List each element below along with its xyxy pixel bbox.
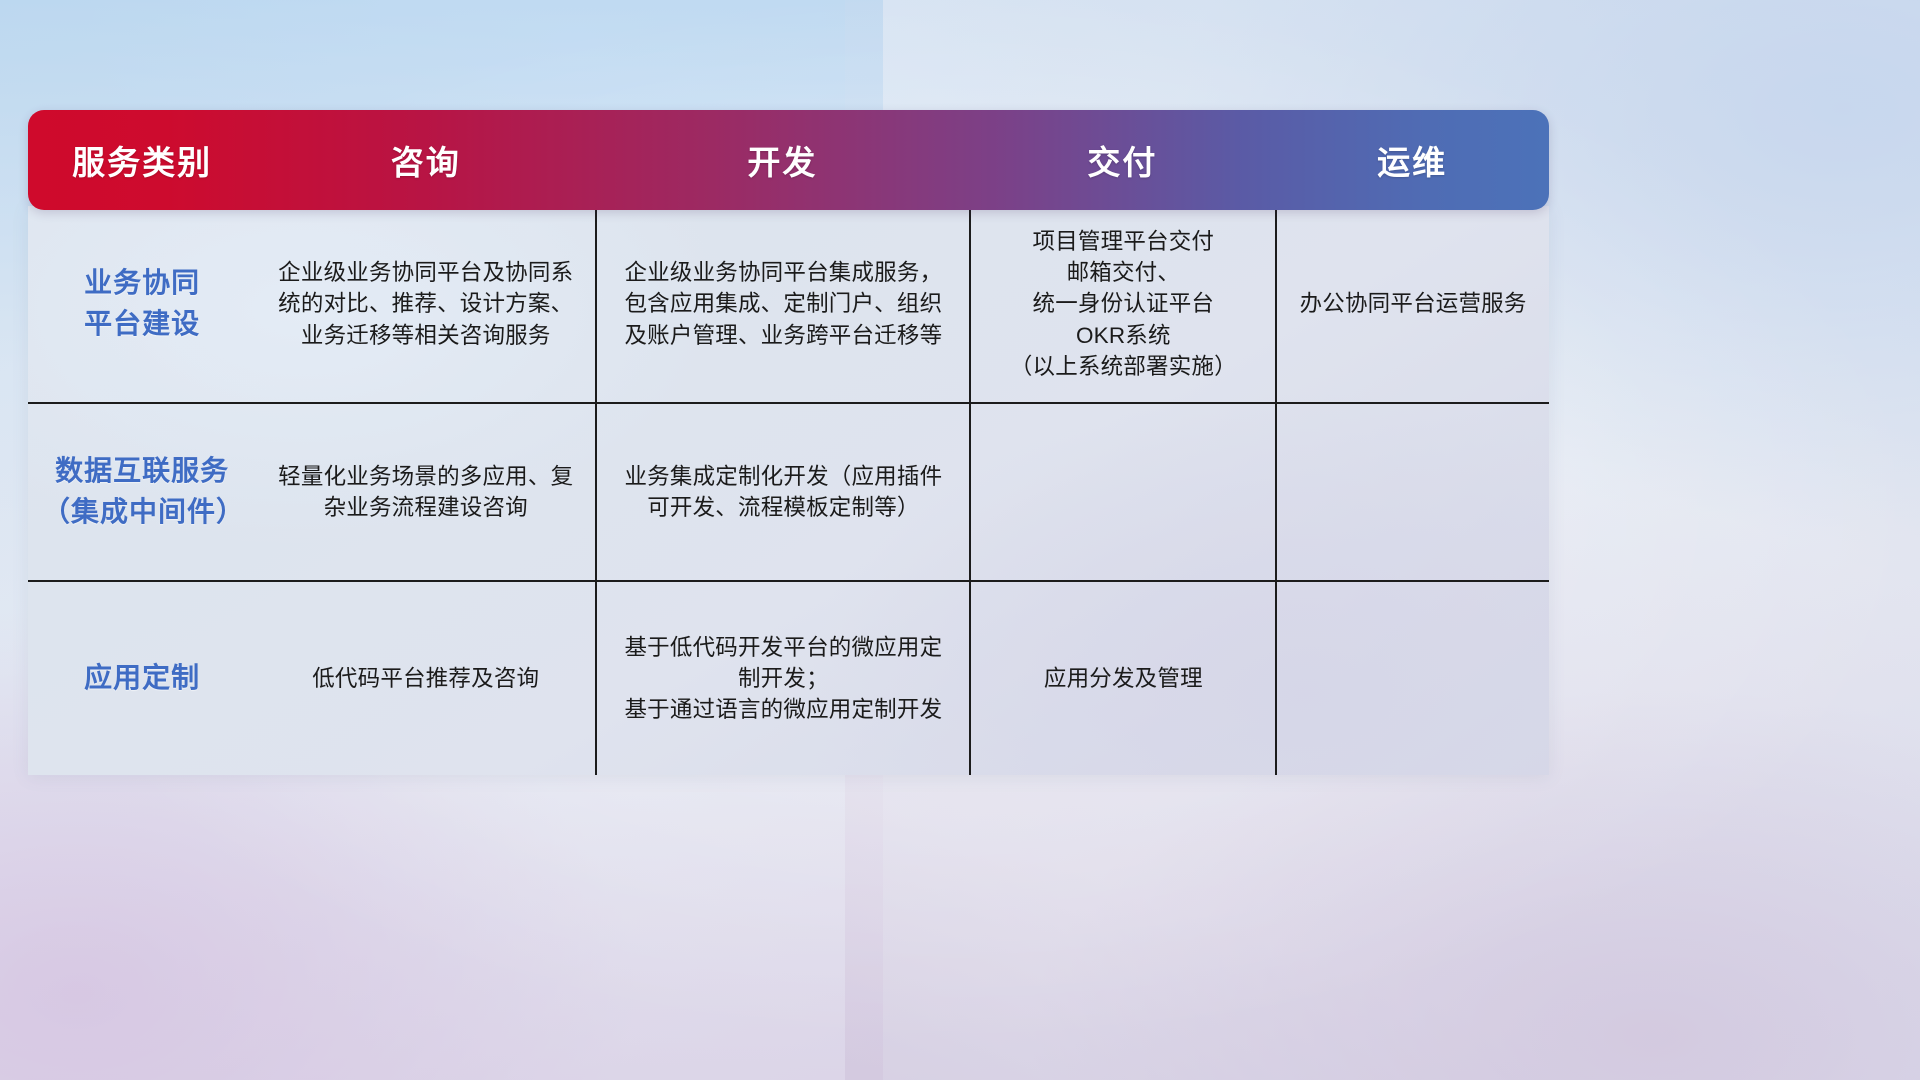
header-cell-service-category: 服务类别 (28, 136, 256, 184)
cell-consulting: 轻量化业务场景的多应用、复 杂业务流程建设咨询 (256, 404, 595, 580)
table-grid: 业务协同 平台建设 企业级业务协同平台及协同系 统的对比、推荐、设计方案、 业务… (28, 206, 1549, 775)
header-cell-consulting: 咨询 (256, 136, 595, 184)
cell-delivery (969, 404, 1275, 580)
cell-operations (1275, 404, 1549, 580)
table-header-row: 服务类别 咨询 开发 交付 运维 (28, 110, 1549, 210)
table-row: 数据互联服务 （集成中间件） 轻量化业务场景的多应用、复 杂业务流程建设咨询 业… (28, 402, 1549, 580)
cell-development: 业务集成定制化开发（应用插件 可开发、流程模板定制等） (595, 404, 969, 580)
table-row: 业务协同 平台建设 企业级业务协同平台及协同系 统的对比、推荐、设计方案、 业务… (28, 206, 1549, 402)
header-cell-delivery: 交付 (969, 136, 1275, 184)
cell-consulting: 低代码平台推荐及咨询 (256, 582, 595, 775)
row-category-label: 业务协同 平台建设 (28, 206, 256, 402)
cell-development: 基于低代码开发平台的微应用定 制开发； 基于通过语言的微应用定制开发 (595, 582, 969, 775)
table-row: 应用定制 低代码平台推荐及咨询 基于低代码开发平台的微应用定 制开发； 基于通过… (28, 580, 1549, 775)
header-cell-development: 开发 (595, 136, 969, 184)
cell-operations: 办公协同平台运营服务 (1275, 206, 1549, 402)
cell-development: 企业级业务协同平台集成服务， 包含应用集成、定制门户、组织 及账户管理、业务跨平… (595, 206, 969, 402)
header-cell-operations: 运维 (1275, 136, 1549, 184)
service-matrix-table: 服务类别 咨询 开发 交付 运维 业务协同 平台建设 企业级业务协同平台及协同系… (28, 110, 1549, 775)
row-category-label: 应用定制 (28, 582, 256, 775)
row-category-label: 数据互联服务 （集成中间件） (28, 404, 256, 580)
cell-consulting: 企业级业务协同平台及协同系 统的对比、推荐、设计方案、 业务迁移等相关咨询服务 (256, 206, 595, 402)
cell-delivery: 应用分发及管理 (969, 582, 1275, 775)
cell-operations (1275, 582, 1549, 775)
cell-delivery: 项目管理平台交付 邮箱交付、 统一身份认证平台 OKR系统 （以上系统部署实施） (969, 206, 1275, 402)
